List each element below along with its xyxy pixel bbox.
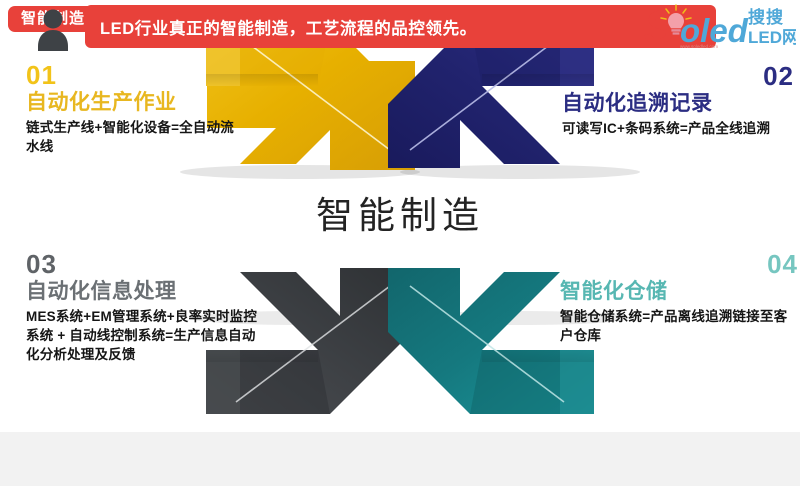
feature-number-03: 03 bbox=[26, 251, 266, 277]
feature-number-01: 01 bbox=[26, 62, 241, 88]
feature-block-03: 03 自动化信息处理 MES系统+EM管理系统+良率实时监控系统 + 自动线控制… bbox=[26, 251, 266, 364]
feature-block-02: 02 自动化追溯记录 可读写IC+条码系统=产品全线追溯 bbox=[562, 63, 794, 138]
logo-tagline: www.soledled.com bbox=[680, 44, 718, 49]
slide-canvas: 智能制造 智能制造 01 自动化生产作业 链式生产线+智能化设备=全自动流水线 … bbox=[0, 0, 800, 486]
feature-body-01: 链式生产线+智能化设备=全自动流水线 bbox=[26, 118, 241, 156]
feature-number-02: 02 bbox=[562, 63, 794, 89]
feature-heading-02: 自动化追溯记录 bbox=[562, 92, 794, 117]
logo-cn-top: 搜搜 bbox=[748, 7, 784, 27]
feature-heading-04: 智能化仓储 bbox=[560, 280, 798, 305]
feature-body-04: 智能仓储系统=产品离线追溯链接至客户仓库 bbox=[560, 307, 798, 345]
center-title: 智能制造 bbox=[0, 185, 800, 239]
feature-block-04: 04 智能化仓储 智能仓储系统=产品离线追溯链接至客户仓库 bbox=[560, 251, 798, 345]
feature-heading-03: 自动化信息处理 bbox=[26, 280, 266, 305]
soled-logo[interactable]: S oled www.soledled.com 搜搜 LED网 bbox=[644, 1, 796, 51]
bottom-banner-text: LED行业真正的智能制造，工艺流程的品控领先。 bbox=[100, 15, 477, 39]
feature-body-02: 可读写IC+条码系统=产品全线追溯 bbox=[562, 119, 794, 138]
feature-block-01: 01 自动化生产作业 链式生产线+智能化设备=全自动流水线 bbox=[26, 62, 241, 156]
logo-cn-bottom: LED网 bbox=[748, 28, 796, 47]
feature-body-03: MES系统+EM管理系统+良率实时监控系统 + 自动线控制系统=生产信息自动化分… bbox=[26, 307, 266, 364]
bottom-bar bbox=[0, 432, 800, 486]
person-silhouette-icon bbox=[30, 5, 76, 51]
feature-heading-01: 自动化生产作业 bbox=[26, 91, 241, 116]
feature-number-04: 04 bbox=[560, 251, 798, 277]
